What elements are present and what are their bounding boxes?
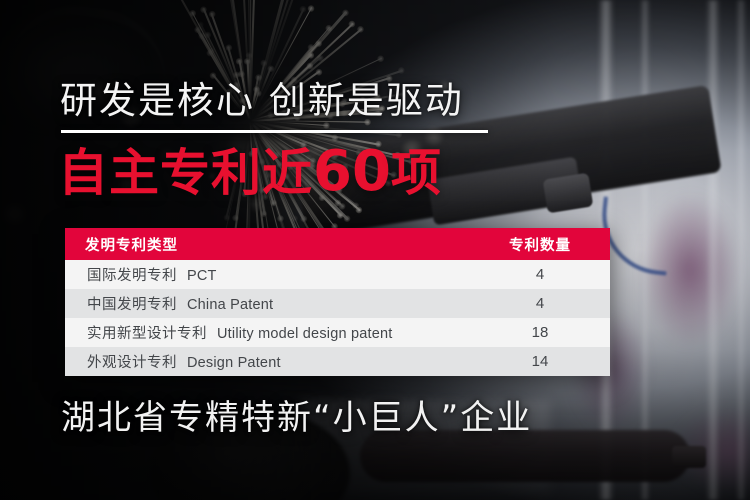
cell-type-cn: 实用新型设计专利 — [87, 326, 207, 342]
headline-bottom: 湖北省专精特新“小巨人”企业 — [61, 398, 532, 438]
column-header-type: 发明专利类型 — [65, 234, 470, 255]
headline-main-number: 60 — [313, 139, 391, 204]
cell-patent-type: 外观设计专利Design Patent — [65, 351, 470, 372]
headline-main: 自主专利近60项 — [58, 143, 442, 202]
table-row: 国际发明专利PCT 4 — [65, 260, 610, 289]
table-header-row: 发明专利类型 专利数量 — [65, 228, 610, 260]
cell-patent-count: 4 — [470, 295, 610, 312]
headline-main-prefix: 自主专利近 — [58, 144, 313, 202]
cell-type-en: Design Patent — [187, 355, 281, 371]
headline-main-suffix: 项 — [391, 144, 442, 202]
headline-top: 研发是核心 创新是驱动 — [60, 80, 464, 122]
cell-patent-type: 国际发明专利PCT — [65, 264, 470, 285]
headline-divider — [61, 130, 488, 133]
table-row: 外观设计专利Design Patent 14 — [65, 347, 610, 376]
banner-stage: 研发是核心 创新是驱动 自主专利近60项 发明专利类型 专利数量 国际发明专利P… — [0, 0, 750, 500]
cell-patent-type: 中国发明专利China Patent — [65, 293, 470, 314]
cell-patent-type: 实用新型设计专利Utility model design patent — [65, 322, 470, 343]
column-header-count: 专利数量 — [470, 234, 610, 255]
cell-type-en: PCT — [187, 268, 217, 284]
cell-type-cn: 外观设计专利 — [87, 355, 177, 371]
table-row: 中国发明专利China Patent 4 — [65, 289, 610, 318]
cell-patent-count: 18 — [470, 324, 610, 341]
cell-patent-count: 4 — [470, 266, 610, 283]
cell-type-en: Utility model design patent — [217, 326, 392, 342]
patent-table: 发明专利类型 专利数量 国际发明专利PCT 4 中国发明专利China Pate… — [65, 228, 610, 376]
cell-type-cn: 国际发明专利 — [87, 268, 177, 284]
table-row: 实用新型设计专利Utility model design patent 18 — [65, 318, 610, 347]
cell-patent-count: 14 — [470, 353, 610, 370]
cell-type-en: China Patent — [187, 297, 273, 313]
cell-type-cn: 中国发明专利 — [87, 297, 177, 313]
banner-content: 研发是核心 创新是驱动 自主专利近60项 发明专利类型 专利数量 国际发明专利P… — [0, 0, 750, 500]
